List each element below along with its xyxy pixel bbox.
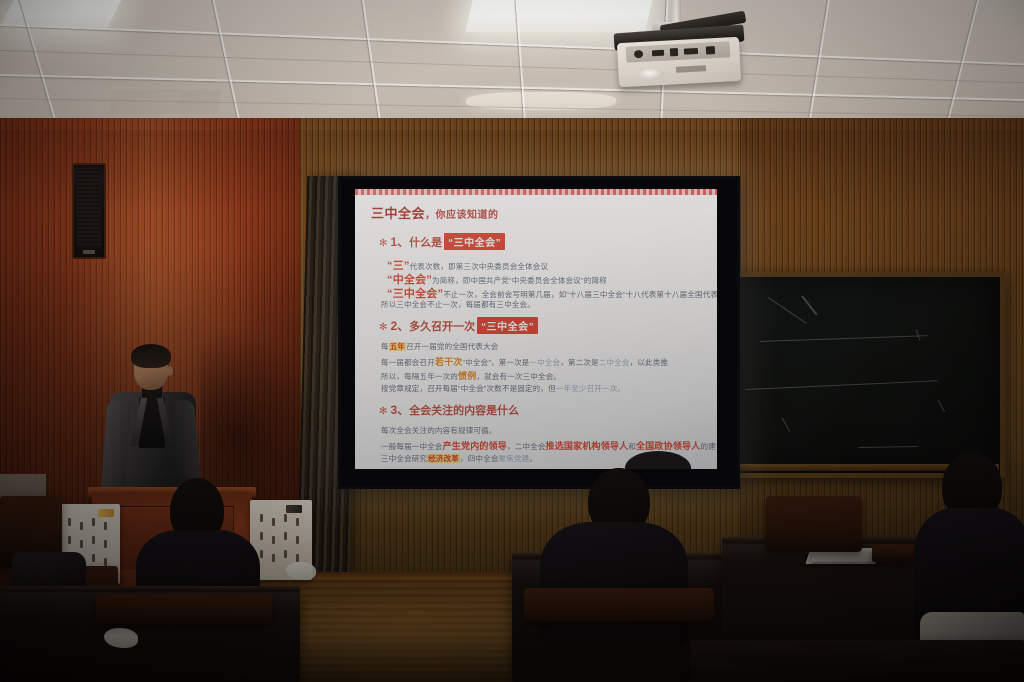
body-segment: 每一届都会召开 <box>381 358 435 367</box>
speaker-logo <box>83 250 95 254</box>
body-segment: 推选国家机构领导人 <box>546 441 629 451</box>
presenter-ear <box>166 366 173 376</box>
slide-body-line: 所以，每隔五年一次的惯例，就会有一次三中全会。 <box>381 369 561 382</box>
chair-right-empty <box>766 496 862 552</box>
body-segment: 代表次数，即第三次中央委员会全体会议 <box>410 262 549 271</box>
table-front-left-edge <box>0 586 300 591</box>
body-segment: ，就会有一次三中全会。 <box>476 372 561 381</box>
chalk-mark <box>801 295 817 315</box>
bullet-star-icon: ✻ <box>379 238 387 249</box>
body-segment: 召开一届党的全国代表大会 <box>406 342 498 351</box>
chair-back-center <box>524 588 714 622</box>
body-segment: 二中全会 <box>599 358 630 367</box>
section-number: 3、 <box>390 403 409 417</box>
body-segment: ，四中全会 <box>460 454 499 463</box>
body-segment: “中全会”，第一次是 <box>463 358 530 367</box>
body-segment: 三中全会研究 <box>381 454 427 463</box>
projector-port <box>684 48 698 55</box>
section-number: 1、 <box>390 235 409 249</box>
slide-title-main: 三中全会 <box>371 206 425 221</box>
section-tag: “三中全会” <box>444 233 505 250</box>
projector-port <box>706 46 715 54</box>
body-segment: 每 <box>381 342 389 351</box>
bench-front-left-chairback <box>96 594 272 624</box>
slide-body-line: 每五年召开一届党的全国代表大会 <box>381 341 499 352</box>
body-segment: 和 <box>628 442 636 451</box>
section-heading-text: 什么是 <box>409 237 442 249</box>
slide-top-border <box>355 189 717 195</box>
presenter-hair <box>131 344 171 368</box>
attendee-head-shadow-on-screen <box>625 451 691 469</box>
slide-title: 三中全会，你应该知道的 <box>371 203 499 222</box>
book-stack-right <box>872 544 916 562</box>
chalk-mark <box>858 446 918 448</box>
slide-section-3-heading: ✻ 3、全会关注的内容是什么 <box>379 401 519 418</box>
body-segment: 不止一次，全会前会写明第几届，如“十八届三中全会”十八代表第十八届全国代表大会， <box>443 290 717 299</box>
section-heading-text: 全会关注的内容是什么 <box>409 405 519 417</box>
body-segment: 惯例 <box>458 371 476 381</box>
body-segment: 按党章规定，召开每届“中全会”次数不是固定的，但 <box>381 384 556 393</box>
body-segment: 所以三中全会不止一次，每届都有三中全会。 <box>381 300 535 309</box>
body-segment: 每次全会关注的内容有规律可循。 <box>381 426 497 435</box>
slide-title-separator: ， <box>425 210 436 221</box>
body-segment: ，二中全会 <box>507 442 546 451</box>
meeting-room-photo: 三中全会，你应该知道的 ✻ 1、什么是“三中全会” “三”代表次数，即第三次中央… <box>0 0 1024 682</box>
speaker-grille <box>77 169 101 247</box>
projection-screen: 三中全会，你应该知道的 ✻ 1、什么是“三中全会” “三”代表次数，即第三次中央… <box>338 176 740 489</box>
body-segment: 一般每届一中全会 <box>381 442 443 451</box>
ceiling-tile-seam <box>0 50 1024 86</box>
equipment-sticker <box>98 509 114 517</box>
body-segment: 所以，每隔五年一次的 <box>381 372 458 381</box>
slide-body-line: 所以三中全会不止一次，每届都有三中全会。 <box>381 299 535 310</box>
body-segment: 全国政协领导人 <box>636 441 700 451</box>
body-segment: 为简称，即中国共产党“中央委员会全体会议”的简称 <box>432 276 607 285</box>
chalk-mark <box>782 417 790 432</box>
body-segment: 的建议名单， <box>700 442 717 451</box>
projector-port <box>634 50 643 58</box>
slide-body-line: 一般每届一中全会产生党内的领导，二中全会推选国家机构领导人和全国政协领导人的建议… <box>381 439 717 452</box>
bullet-star-icon: ✻ <box>379 406 387 417</box>
presentation-slide: 三中全会，你应该知道的 ✻ 1、什么是“三中全会” “三”代表次数，即第三次中央… <box>355 189 717 469</box>
wall-speaker <box>72 163 106 259</box>
section-heading-text: 多久召开一次 <box>409 321 475 333</box>
body-segment: 产生党内的领导 <box>443 441 507 451</box>
slide-section-1-heading: ✻ 1、什么是“三中全会” <box>379 233 505 250</box>
body-segment: 聚焦党建 <box>499 454 530 463</box>
tissue-center <box>286 562 316 580</box>
blackboard <box>733 272 1005 478</box>
chalk-mark <box>938 399 945 412</box>
body-segment: ，第二次是 <box>560 358 599 367</box>
slide-body-line: 三中全会研究经济改革，四中全会聚焦党建。 <box>381 453 537 464</box>
body-segment: 。 <box>529 454 537 463</box>
body-segment: ，以此类推 <box>630 358 669 367</box>
projector-port <box>670 48 678 56</box>
chalk-mark <box>768 297 807 324</box>
attendee-body <box>540 522 688 648</box>
projector-port <box>652 50 664 57</box>
slide-section-2-heading: ✻ 2、多久召开一次“三中全会” <box>379 317 538 334</box>
equipment-sticker <box>286 505 302 513</box>
bullet-star-icon: ✻ <box>379 322 387 333</box>
slide-body-line: 按党章规定，召开每届“中全会”次数不是固定的，但一年至少召开一次。 <box>381 383 625 394</box>
body-segment: 一中全会 <box>530 358 561 367</box>
table-right-front <box>690 640 1024 682</box>
slide-title-sub: 你应该知道的 <box>436 210 499 221</box>
body-segment-highlight: 五年 <box>389 342 406 351</box>
ceiling-projector <box>600 0 770 96</box>
body-segment: 一年至少召开一次。 <box>556 384 625 393</box>
slide-body-line: 每一届都会召开若干次“中全会”，第一次是一中全会，第二次是二中全会，以此类推 <box>381 355 668 368</box>
chalk-mark <box>760 335 928 342</box>
section-tag: “三中全会” <box>477 317 538 334</box>
body-segment-highlight: 经济改革 <box>427 454 460 463</box>
section-number: 2、 <box>390 319 409 333</box>
chalk-mark <box>746 380 938 390</box>
slide-body-line: 每次全会关注的内容有规律可循。 <box>381 425 497 436</box>
body-segment: 若干次 <box>435 357 463 367</box>
papers-on-table-right-2 <box>810 552 879 562</box>
